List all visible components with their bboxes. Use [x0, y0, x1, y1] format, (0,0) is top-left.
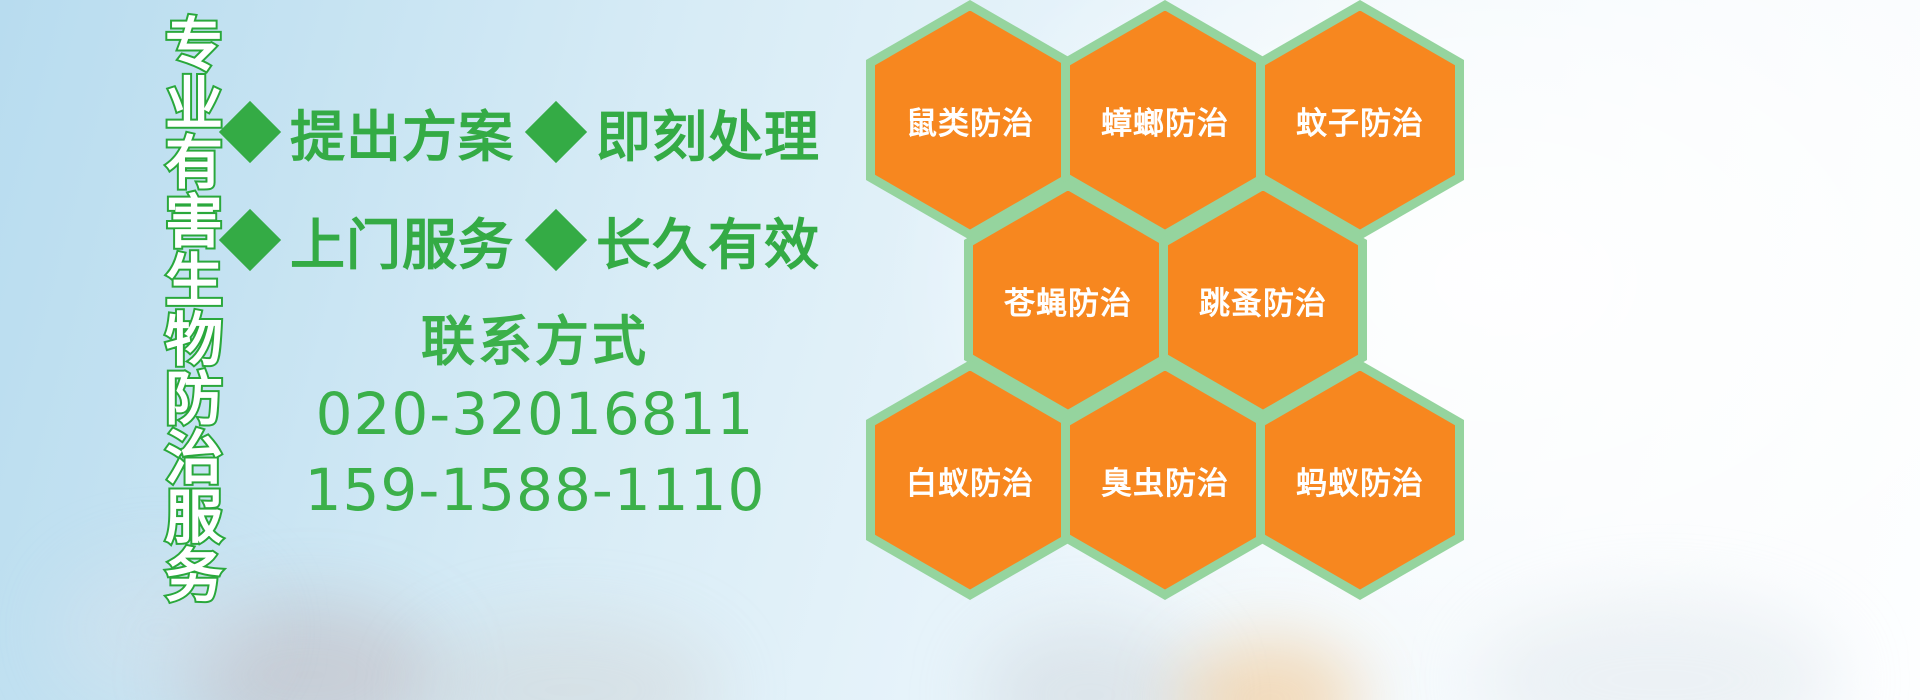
hexagon-inner: 白蚁防治 [875, 371, 1065, 590]
contact-phone-mobile[interactable]: 159-1588-1110 [300, 452, 770, 529]
service-hexagon-label: 蚂蚁防治 [1296, 458, 1424, 503]
feature-row: 提出方案 即刻处理 [228, 78, 868, 186]
contact-title: 联系方式 [300, 308, 770, 376]
hexagon-inner: 臭虫防治 [1070, 371, 1260, 590]
hexagon-inner: 蚂蚁防治 [1265, 371, 1455, 590]
feature-label: 即刻处理 [596, 92, 820, 172]
hexagon-inner: 鼠类防治 [875, 11, 1065, 230]
service-hexagon-label: 跳蚤防治 [1199, 278, 1327, 323]
feature-item: 长久有效 [534, 200, 820, 280]
background-blur-blob [1180, 640, 1360, 700]
feature-row: 上门服务 长久有效 [228, 186, 868, 294]
hexagon-inner: 蚊子防治 [1265, 11, 1455, 230]
diamond-icon [219, 101, 281, 163]
service-hexagon-grid: 鼠类防治 蟑螂防治 蚊子防治 苍蝇防治 跳蚤防治 白蚁防治 [858, 0, 1478, 570]
service-hexagon-label: 白蚁防治 [906, 458, 1034, 503]
diamond-icon [525, 101, 587, 163]
feature-label: 提出方案 [290, 92, 514, 172]
background-blur-blob [980, 620, 1200, 700]
contact-block: 联系方式 020-32016811 159-1588-1110 [300, 308, 770, 529]
vertical-title: 专业有害生物防治服务 [108, 14, 218, 559]
feature-list: 提出方案 即刻处理 上门服务 长久有效 [228, 78, 868, 294]
service-hexagon-label: 苍蝇防治 [1004, 278, 1132, 323]
feature-item: 上门服务 [228, 200, 514, 280]
service-hexagon-label: 鼠类防治 [906, 98, 1034, 143]
feature-item: 提出方案 [228, 92, 514, 172]
feature-item: 即刻处理 [534, 92, 820, 172]
service-hexagon-label: 臭虫防治 [1101, 458, 1229, 503]
service-hexagon-label: 蚊子防治 [1296, 98, 1424, 143]
hexagon-inner: 蟑螂防治 [1070, 11, 1260, 230]
feature-label: 上门服务 [290, 200, 514, 280]
service-hexagon-label: 蟑螂防治 [1101, 98, 1229, 143]
hexagon-inner: 跳蚤防治 [1168, 191, 1358, 410]
promo-banner: 专业有害生物防治服务 提出方案 即刻处理 上门服务 长久有效 联 [0, 0, 1920, 700]
contact-phone-landline[interactable]: 020-32016811 [300, 376, 770, 453]
diamond-icon [525, 209, 587, 271]
feature-label: 长久有效 [596, 200, 820, 280]
hexagon-inner: 苍蝇防治 [973, 191, 1163, 410]
background-blur-blob [1480, 600, 1840, 700]
background-blur-blob [420, 620, 720, 700]
diamond-icon [219, 209, 281, 271]
background-blur-blob [180, 600, 440, 700]
